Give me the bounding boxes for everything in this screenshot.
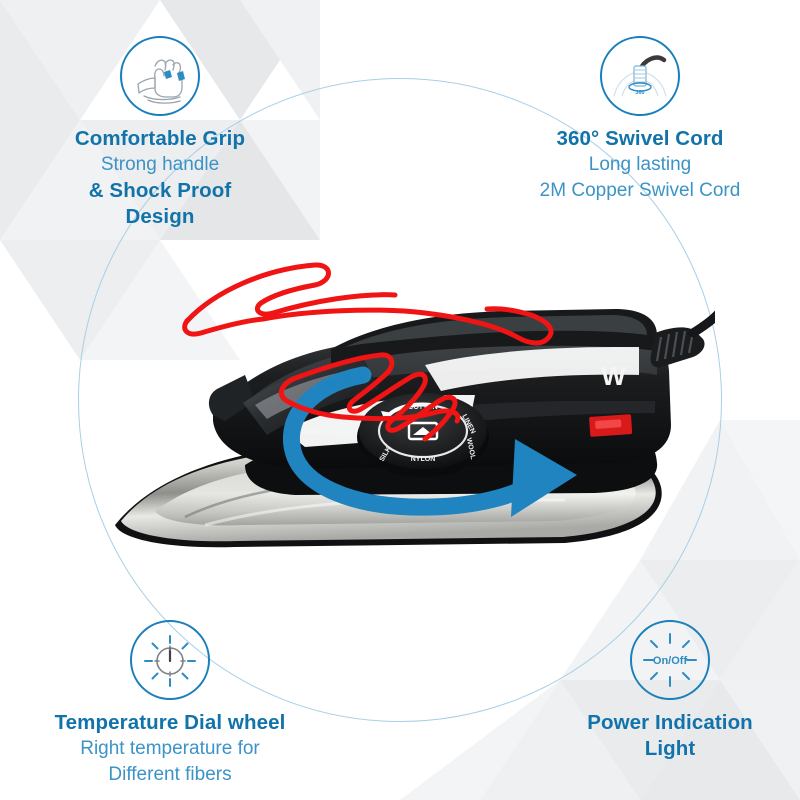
feature-line-2: Different fibers	[0, 762, 340, 787]
feature-line-1: Strong handle	[0, 152, 320, 177]
feature-power-indication: On/Off Power Indication Light	[540, 620, 800, 762]
feature-line-1: Right temperature for	[0, 736, 340, 761]
infographic-canvas: Comfortable Grip Strong handle & Shock P…	[0, 0, 800, 800]
feature-line-2: 2M Copper Swivel Cord	[480, 178, 800, 203]
hand-grip-icon	[120, 36, 200, 116]
product-image-electric-dry-iron: COTTON LINEN WOOL NYLON SILK W	[95, 225, 715, 585]
feature-line-1: Light	[540, 736, 800, 762]
feature-line-2: & Shock Proof	[0, 178, 320, 204]
feature-swivel-cord: 360 360° Swivel Cord Long lasting 2M Cop…	[480, 36, 800, 203]
feature-title: Power Indication	[540, 710, 800, 736]
brand-logo-w: W	[601, 361, 626, 391]
feature-title: 360° Swivel Cord	[480, 126, 800, 152]
temperature-dial-icon	[130, 620, 210, 700]
feature-comfortable-grip: Comfortable Grip Strong handle & Shock P…	[0, 36, 320, 230]
power-cord	[693, 307, 715, 333]
power-onoff-icon: On/Off	[630, 620, 710, 700]
feature-title: Temperature Dial wheel	[0, 710, 340, 736]
feature-title: Comfortable Grip	[0, 126, 320, 152]
power-icon-label: On/Off	[653, 655, 688, 667]
swivel-icon-label: 360	[635, 90, 644, 96]
feature-line-1: Long lasting	[480, 152, 800, 177]
feature-temperature-dial: Temperature Dial wheel Right temperature…	[0, 620, 340, 787]
dial-label-nylon: NYLON	[411, 456, 436, 463]
swivel-cord-icon: 360	[600, 36, 680, 116]
temperature-dial-knob[interactable]: COTTON LINEN WOOL NYLON SILK	[357, 393, 489, 477]
